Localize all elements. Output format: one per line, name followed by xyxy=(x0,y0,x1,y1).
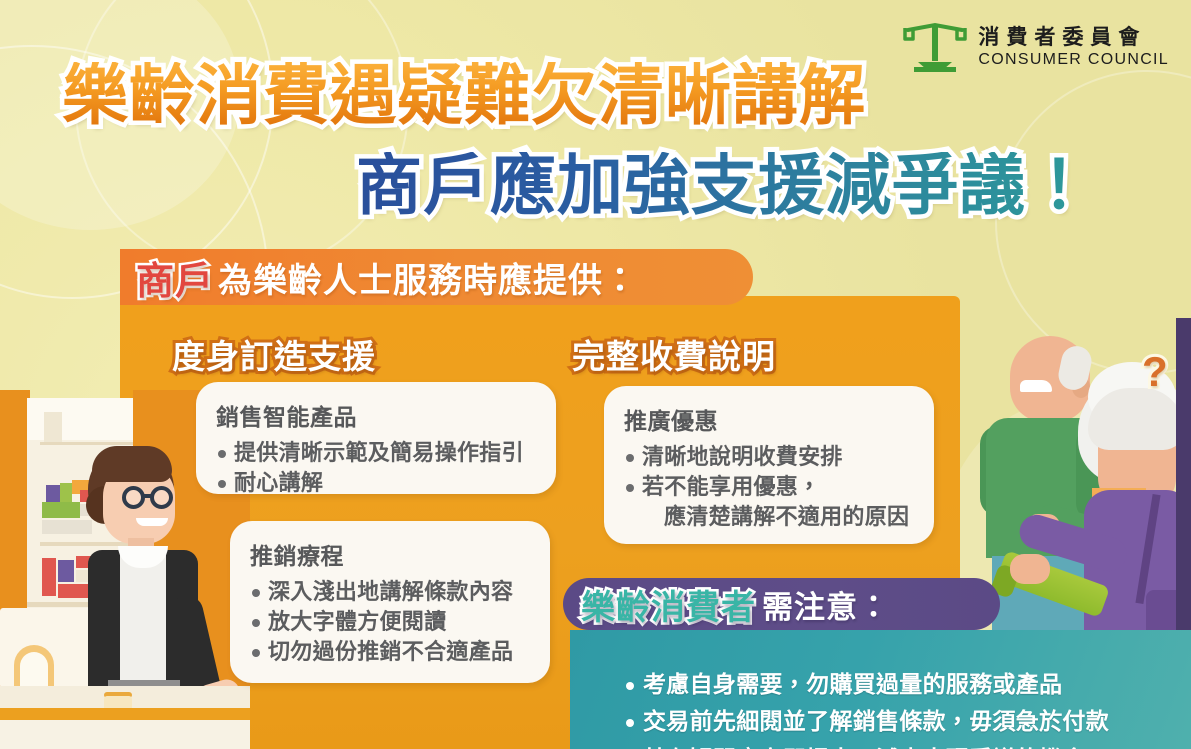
shop-product-box xyxy=(58,560,74,582)
balance-scale-icon xyxy=(902,22,968,72)
elderly-woman-fringe xyxy=(1088,388,1184,450)
infographic-poster: 消費者委員會 CONSUMER COUNCIL 樂齡消費遇疑難欠清晰講解 樂齡消… xyxy=(0,0,1191,749)
card-bullet-list: 提供清晰示範及簡易操作指引 耐心講解 xyxy=(216,438,538,498)
merchant-banner-text: 為樂齡人士服務時應提供： xyxy=(218,253,638,302)
shop-counter-edge xyxy=(0,708,250,720)
list-item: 交易前先細閱並了解銷售條款，毋須急於付款 xyxy=(624,703,1191,740)
clerk-fringe xyxy=(92,446,172,482)
merchant-banner-keyword: 商戶 xyxy=(136,250,214,305)
headline-line2: 商戶應加強支援減爭議！ xyxy=(356,152,1093,218)
list-item: 切勿過份推銷不合適產品 xyxy=(250,637,532,667)
shop-product-box xyxy=(42,502,80,518)
merchant-banner: 商戶 為樂齡人士服務時應提供： xyxy=(120,249,753,305)
list-item: 考慮自身需要，勿購買過量的服務或產品 xyxy=(624,666,1191,703)
consumer-banner-keyword: 樂齡消費者 xyxy=(581,580,756,629)
shop-product-box xyxy=(42,520,92,534)
consumer-bullet-list: 考慮自身需要，勿購買過量的服務或產品 交易前先細閱並了解銷售條款，毋須急於付款 … xyxy=(584,666,1191,749)
card-bullet-list: 深入淺出地講解條款內容 放大字體方便閱讀 切勿過份推銷不合適產品 xyxy=(250,577,532,667)
clerk-smile xyxy=(136,518,168,526)
list-item: 若不能享用優惠， xyxy=(624,472,916,502)
logo-english-name: CONSUMER COUNCIL xyxy=(978,52,1169,68)
column-heading-tailored-support: 度身訂造支援 xyxy=(172,330,376,378)
logo-chinese-name: 消費者委員會 xyxy=(978,27,1169,48)
card-promotional-offers: 推廣優惠 清晰地說明收費安排 若不能享用優惠， 應清楚講解不適用的原因 xyxy=(604,386,934,544)
consumer-banner-text: 需注意： xyxy=(762,582,890,627)
list-item: 放大字體方便閱讀 xyxy=(250,607,532,637)
list-item: 若有疑問應立即提出，減少出現爭議的機會 xyxy=(624,741,1191,749)
list-item: 提供清晰示範及簡易操作指引 xyxy=(216,438,538,468)
column-heading-fee-explanation: 完整收費說明 xyxy=(572,330,776,378)
consumer-council-logo: 消費者委員會 CONSUMER COUNCIL xyxy=(902,22,1169,72)
shop-display-arch-inner xyxy=(20,652,48,689)
clerk-glasses-right xyxy=(150,486,173,509)
question-mark-icon: ? xyxy=(1142,348,1168,396)
shop-shelf-board xyxy=(40,442,138,445)
shop-counter-base xyxy=(0,720,250,749)
shop-product-box xyxy=(42,558,56,596)
elderly-man-eye xyxy=(1020,380,1052,392)
list-item: 耐心講解 xyxy=(216,468,538,498)
card-smart-products: 銷售智能產品 提供清晰示範及簡易操作指引 耐心講解 xyxy=(196,382,556,494)
consumer-banner: 樂齡消費者 需注意： xyxy=(563,578,1000,630)
elderly-woman-hand xyxy=(1010,554,1050,584)
logo-text: 消費者委員會 CONSUMER COUNCIL xyxy=(978,27,1169,68)
card-title: 推廣優惠 xyxy=(624,402,916,436)
list-item: 清晰地說明收費安排 xyxy=(624,442,916,472)
shop-product-box xyxy=(44,412,62,442)
clerk-glasses-bridge xyxy=(143,494,152,498)
card-title: 銷售智能產品 xyxy=(216,398,538,432)
clerk-glasses-left xyxy=(122,486,145,509)
headline-line1: 樂齡消費遇疑難欠清晰講解 xyxy=(62,62,866,128)
list-item: 深入淺出地講解條款內容 xyxy=(250,577,532,607)
clerk-shirt xyxy=(120,548,166,693)
list-item-continuation: 應清楚講解不適用的原因 xyxy=(624,502,916,532)
card-treatment-sales: 推銷療程 深入淺出地講解條款內容 放大字體方便閱讀 切勿過份推銷不合適產品 xyxy=(230,521,550,683)
card-title: 推銷療程 xyxy=(250,537,532,571)
card-bullet-list: 清晰地說明收費安排 若不能享用優惠， 應清楚講解不適用的原因 xyxy=(624,442,916,532)
